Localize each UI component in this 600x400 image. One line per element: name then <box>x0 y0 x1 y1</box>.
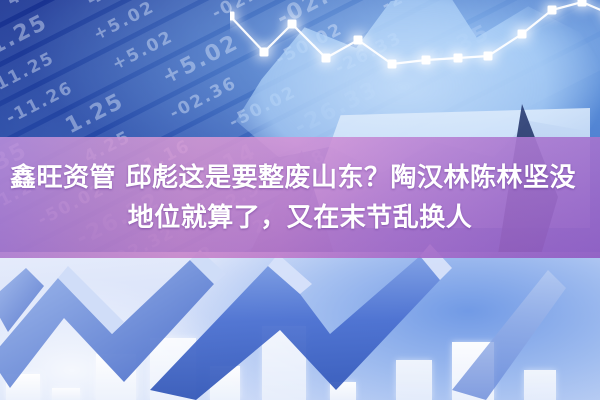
chart-node <box>288 20 297 29</box>
headline-line-2: 地位就算了，又在末节乱换人 <box>128 200 473 236</box>
chart-node <box>484 52 493 61</box>
chart-node <box>548 6 557 15</box>
poster-canvas: -02.3521.3645.024.36-02.35-11.2545.024.3… <box>0 0 600 400</box>
chart-node <box>454 54 463 63</box>
chart-node <box>388 60 397 69</box>
headline-line-1: 鑫旺资管 邱彪这是要整废山东？陶汉林陈林坚没 <box>10 160 576 196</box>
chart-node <box>578 0 587 7</box>
chart-node <box>230 12 235 21</box>
chart-node <box>260 48 269 57</box>
chart-node <box>518 30 527 39</box>
chart-node <box>422 56 431 65</box>
chart-node <box>322 54 331 63</box>
headline-block: 鑫旺资管 邱彪这是要整废山东？陶汉林陈林坚没 地位就算了，又在末节乱换人 <box>0 137 600 258</box>
zigzag-growth-arrow <box>0 240 600 400</box>
chart-node <box>354 36 363 45</box>
